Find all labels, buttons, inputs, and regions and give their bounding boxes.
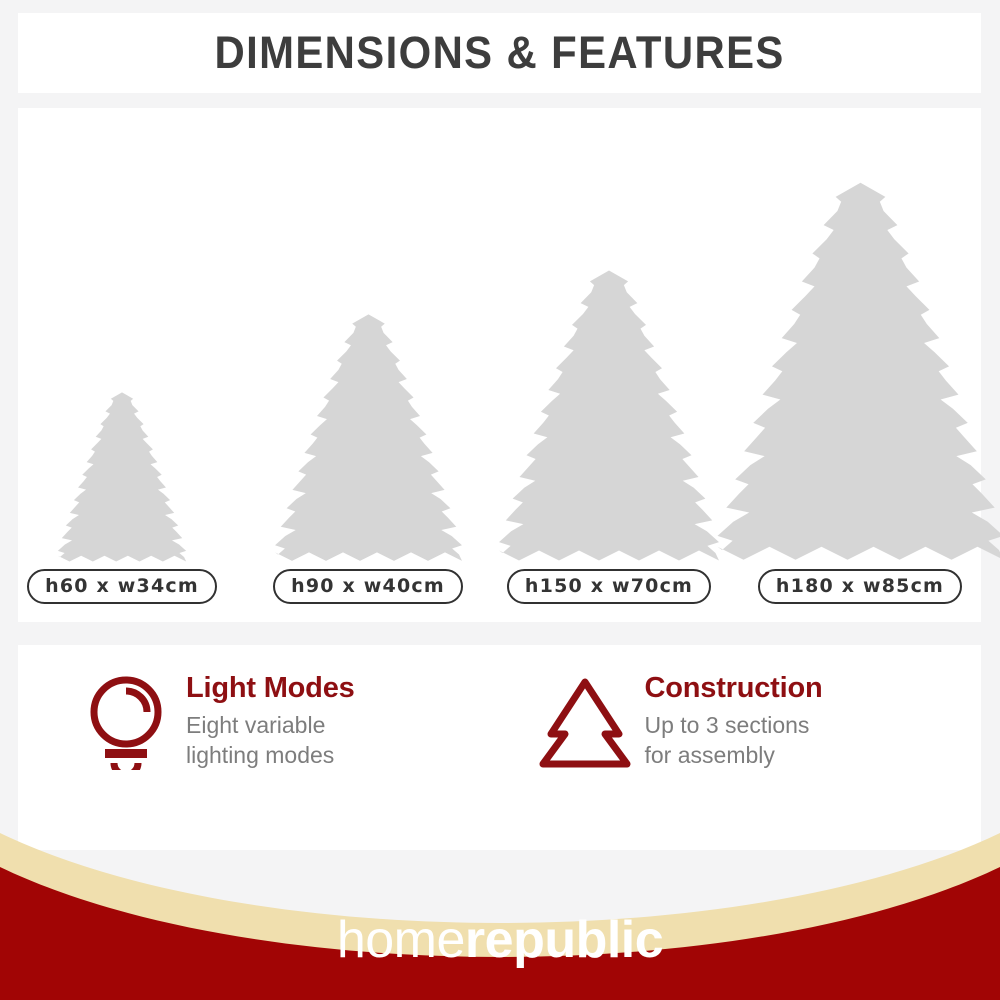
tree-silhouette: [246, 308, 491, 563]
tree-size-item: h90 x w40cm: [246, 90, 491, 622]
size-label-pill: h60 x w34cm: [27, 569, 217, 604]
feature-description: Up to 3 sections for assembly: [645, 711, 823, 770]
feature-description: Eight variable lighting modes: [186, 711, 355, 770]
feature-light-modes: Light Modes Eight variable lighting mode…: [18, 645, 523, 850]
tree-silhouette: [673, 173, 1000, 563]
tree-size-item: h60 x w34cm: [38, 90, 206, 622]
christmas-tree-outline-icon: [539, 669, 631, 775]
feature-construction: Construction Up to 3 sections for assemb…: [523, 645, 982, 850]
infographic-stage: DIMENSIONS & FEATURES h60 x w34cmh90 x w…: [0, 0, 1000, 1000]
tree-size-item: h180 x w85cm: [673, 90, 1000, 622]
tree-silhouette: [38, 388, 206, 563]
feature-text-block: Construction Up to 3 sections for assemb…: [645, 669, 823, 770]
features-panel: Light Modes Eight variable lighting mode…: [18, 645, 981, 850]
brand-wordmark: homerepublic: [0, 914, 1000, 966]
light-bulb-icon: [80, 669, 172, 775]
feature-title: Light Modes: [186, 673, 355, 703]
brand-republic: republic: [465, 911, 663, 969]
size-label-pill: h90 x w40cm: [273, 569, 463, 604]
dimensions-panel: h60 x w34cmh90 x w40cmh150 x w70cmh180 x…: [18, 108, 981, 622]
title-panel: DIMENSIONS & FEATURES: [18, 13, 981, 93]
feature-text-block: Light Modes Eight variable lighting mode…: [186, 669, 355, 770]
tree-size-row: h60 x w34cmh90 x w40cmh150 x w70cmh180 x…: [18, 108, 981, 622]
page-title: DIMENSIONS & FEATURES: [214, 27, 784, 79]
brand-home: home: [337, 911, 465, 969]
footer-brand-band: homerepublic: [0, 825, 1000, 1000]
feature-title: Construction: [645, 673, 823, 703]
size-label-pill: h180 x w85cm: [758, 569, 962, 604]
